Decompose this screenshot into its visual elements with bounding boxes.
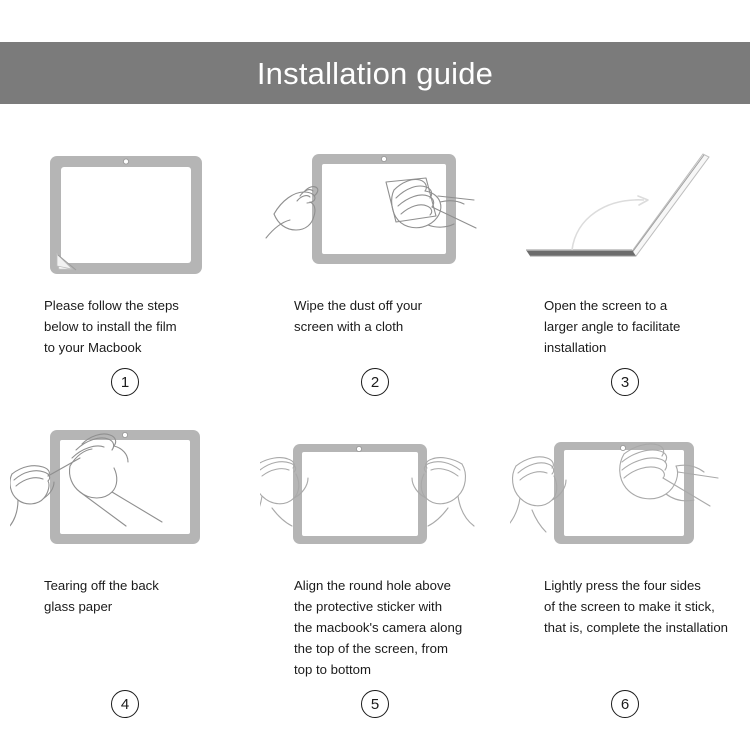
- caption-line: Tearing off the back: [44, 575, 232, 596]
- step-number-badge-3: 3: [611, 368, 639, 396]
- caption-line: to your Macbook: [44, 337, 232, 358]
- step-caption-5: Align the round hole above the protectiv…: [268, 575, 482, 680]
- step-badge-wrap-3: 3: [500, 368, 750, 396]
- caption-line: the top of the screen, from: [294, 638, 482, 659]
- caption-line: below to install the film: [44, 316, 232, 337]
- page-title: Installation guide: [257, 58, 493, 89]
- step-number-badge-1: 1: [111, 368, 139, 396]
- step-card-6: Lightly press the four sides of the scre…: [500, 404, 750, 718]
- step-badge-wrap-4: 4: [0, 690, 250, 718]
- caption-line: the protective sticker with: [294, 596, 482, 617]
- step-badge-wrap-2: 2: [250, 368, 500, 396]
- steps-grid: Please follow the steps below to install…: [0, 130, 750, 718]
- illustration-laptop-open-angle: [510, 142, 740, 287]
- illustration-press-screen-sides: [510, 422, 740, 567]
- step-card-2: Wipe the dust off your screen with a clo…: [250, 130, 500, 396]
- step-badge-wrap-5: 5: [250, 690, 500, 718]
- illustration-wipe-screen-cloth: [260, 142, 490, 287]
- caption-line: top to bottom: [294, 659, 482, 680]
- step-badge-wrap-1: 1: [0, 368, 250, 396]
- caption-line: glass paper: [44, 596, 232, 617]
- illustration-tablet-peeling-film: [10, 142, 240, 287]
- step-caption-6: Lightly press the four sides of the scre…: [518, 575, 732, 680]
- steps-row-top: Please follow the steps below to install…: [0, 130, 750, 396]
- installation-guide-page: Installation guide: [0, 0, 750, 750]
- step-badge-wrap-6: 6: [500, 690, 750, 718]
- step-card-3: Open the screen to a larger angle to fac…: [500, 130, 750, 396]
- caption-line: screen with a cloth: [294, 316, 482, 337]
- step-caption-2: Wipe the dust off your screen with a clo…: [268, 295, 482, 358]
- caption-line: that is, complete the installation: [544, 617, 732, 638]
- caption-line: Open the screen to a: [544, 295, 732, 316]
- step-caption-1: Please follow the steps below to install…: [18, 295, 232, 358]
- step-number-badge-4: 4: [111, 690, 139, 718]
- illustration-align-film-two-hands: [260, 422, 490, 567]
- step-card-1: Please follow the steps below to install…: [0, 130, 250, 396]
- caption-line: the macbook's camera along: [294, 617, 482, 638]
- steps-row-bottom: Tearing off the back glass paper 4: [0, 404, 750, 718]
- step-caption-4: Tearing off the back glass paper: [18, 575, 232, 680]
- step-card-4: Tearing off the back glass paper 4: [0, 404, 250, 718]
- caption-line: of the screen to make it stick,: [544, 596, 732, 617]
- step-number-badge-2: 2: [361, 368, 389, 396]
- caption-line: Wipe the dust off your: [294, 295, 482, 316]
- step-card-5: Align the round hole above the protectiv…: [250, 404, 500, 718]
- caption-line: installation: [544, 337, 732, 358]
- caption-line: Lightly press the four sides: [544, 575, 732, 596]
- caption-line: larger angle to facilitate: [544, 316, 732, 337]
- header-banner: Installation guide: [0, 42, 750, 104]
- step-number-badge-6: 6: [611, 690, 639, 718]
- caption-line: Please follow the steps: [44, 295, 232, 316]
- step-caption-3: Open the screen to a larger angle to fac…: [518, 295, 732, 358]
- step-number-badge-5: 5: [361, 690, 389, 718]
- caption-line: Align the round hole above: [294, 575, 482, 596]
- illustration-tear-back-paper: [10, 422, 240, 567]
